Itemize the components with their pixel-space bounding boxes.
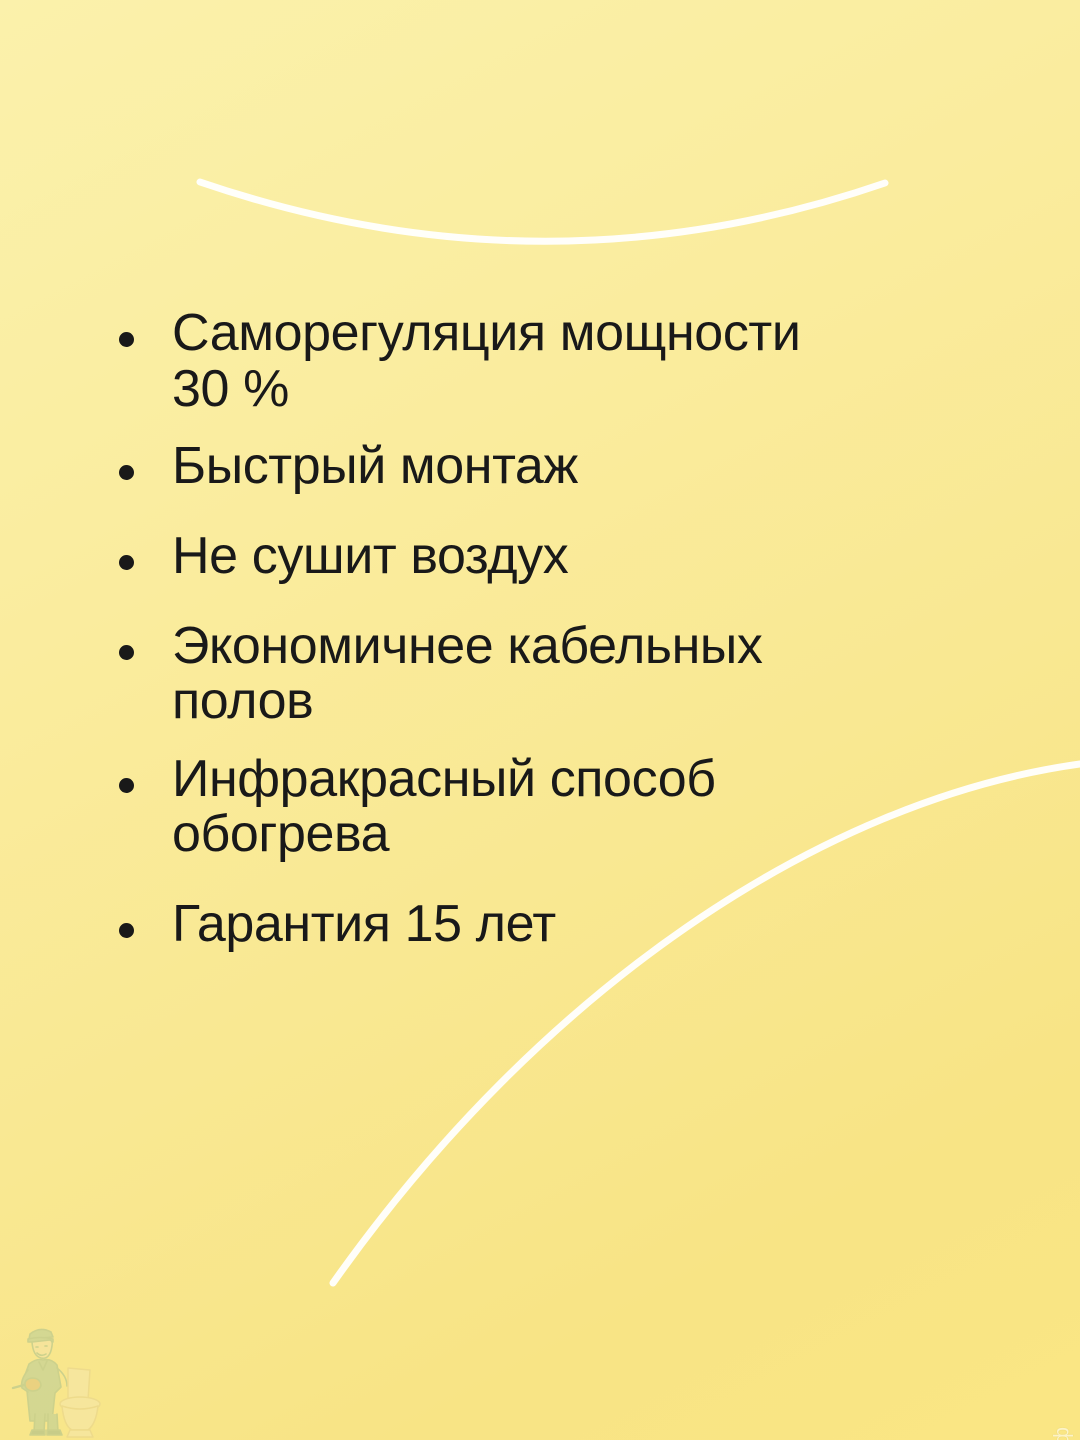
top-arc-curve <box>200 182 885 241</box>
feature-text: Саморегуляция мощности 30 % <box>172 306 990 417</box>
bullet-dot-icon <box>119 332 134 347</box>
list-item: Быстрый монтаж <box>110 439 990 495</box>
feature-list: Саморегуляция мощности 30 % Быстрый монт… <box>110 306 990 953</box>
feature-text: Гарантия 15 лет <box>172 897 990 953</box>
bullet-dot-icon <box>119 465 134 480</box>
site-watermark: афоня.рф <box>1050 1426 1074 1440</box>
feature-text: Экономичнее кабельных полов <box>172 619 990 730</box>
slide-canvas: Саморегуляция мощности 30 % Быстрый монт… <box>0 0 1080 1440</box>
bullet-dot-icon <box>119 555 134 570</box>
bullet-dot-icon <box>119 778 134 793</box>
bullet-dot-icon <box>119 923 134 938</box>
bullet-dot-icon <box>119 645 134 660</box>
list-item: Не сушит воздух <box>110 529 990 585</box>
list-item: Саморегуляция мощности 30 % <box>110 306 990 417</box>
feature-text: Инфракрасный способ обогрева <box>172 752 990 863</box>
list-item: Инфракрасный способ обогрева <box>110 752 990 863</box>
plumber-mascot-icon <box>8 1318 116 1438</box>
list-item: Гарантия 15 лет <box>110 897 990 953</box>
list-item: Экономичнее кабельных полов <box>110 619 990 730</box>
feature-text: Не сушит воздух <box>172 529 990 585</box>
feature-text: Быстрый монтаж <box>172 439 990 495</box>
